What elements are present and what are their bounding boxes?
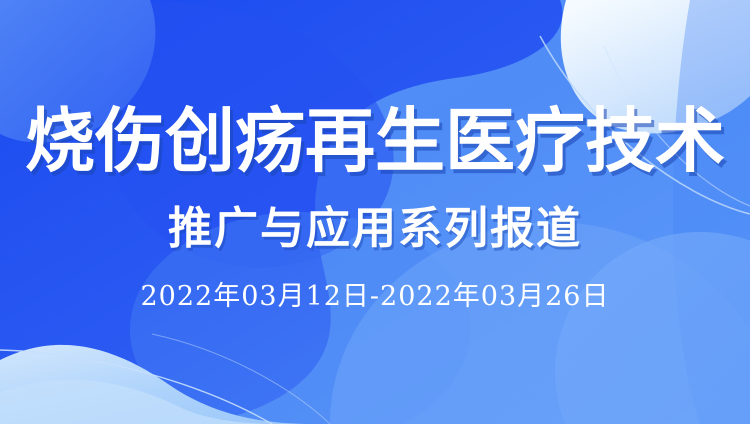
banner-container: 烧伤创疡再生医疗技术 推广与应用系列报道 2022年03月12日-2022年03… [0, 0, 750, 424]
date-range: 2022年03月12日-2022年03月26日 [0, 280, 750, 314]
text-layer: 烧伤创疡再生医疗技术 推广与应用系列报道 2022年03月12日-2022年03… [0, 0, 750, 424]
main-title: 烧伤创疡再生医疗技术 [0, 101, 750, 181]
sub-title: 推广与应用系列报道 [0, 203, 750, 255]
